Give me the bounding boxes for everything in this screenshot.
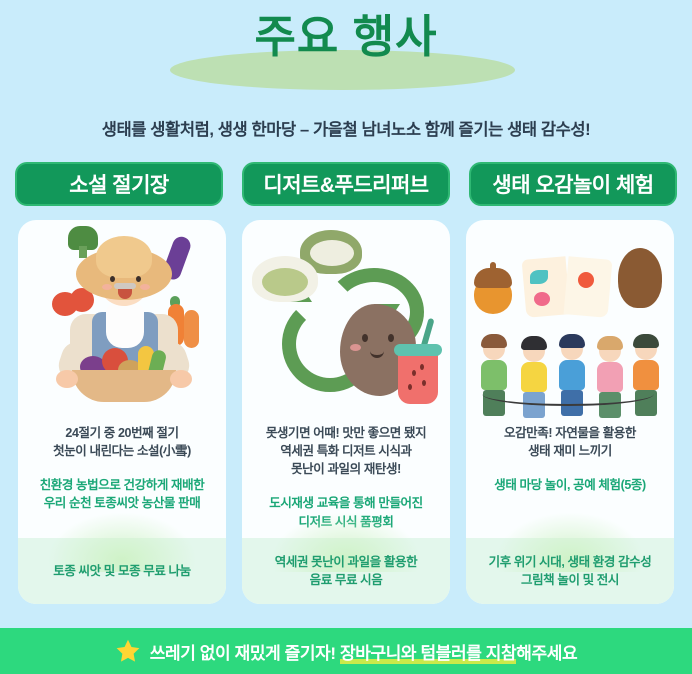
footer-text-before: 쓰레기 없이 재밌게 즐기자! <box>150 644 340 663</box>
card-footer-line: 음료 무료 시음 <box>275 571 417 589</box>
child-figure <box>480 338 508 416</box>
child-figure <box>520 340 548 418</box>
page-subtitle: 생태를 생활처럼, 생생 한마당 – 가을철 남녀노소 함께 즐기는 생태 감수… <box>0 96 692 140</box>
acorn-stem-icon <box>490 262 496 271</box>
watermelon-seed <box>408 384 412 390</box>
card-highlight-line: 생태 마당 놀이, 공예 체험(5종) <box>494 476 646 494</box>
acorn-cap-icon <box>474 268 512 288</box>
child-head <box>561 338 583 360</box>
potato-cheek-left <box>350 344 361 351</box>
straw-hat-crown <box>96 236 152 278</box>
watermelon-seed <box>412 370 416 376</box>
card-description-line: 역세권 특화 디저트 시식과 <box>266 442 426 460</box>
footer-notice-text: 쓰레기 없이 재밌게 즐기자! 장바구니와 텀블러를 지참해주세요 <box>150 639 577 664</box>
child-hair <box>597 336 623 350</box>
card-description-line: 오감만족! 자연물을 활용한 <box>504 424 636 442</box>
card-footer-line: 역세권 못난이 과일을 활용한 <box>275 553 417 571</box>
basket-icon <box>72 370 176 402</box>
card-text-body: 못생기면 어때! 맛만 좋으면 됐지 역세권 특화 디저트 시식과 못난이 과일… <box>242 420 450 604</box>
potato-eye-right <box>388 334 394 342</box>
jump-rope-icon <box>482 382 654 406</box>
card-highlight-line: 우리 순천 토종씨앗 농산물 판매 <box>40 494 205 512</box>
potato-eye-left <box>362 334 368 342</box>
card-footer-band: 토종 씨앗 및 모종 무료 나눔 <box>18 538 226 604</box>
drink-lid-icon <box>394 344 442 356</box>
page-header: 주요 행사 <box>0 0 692 96</box>
farmer-mustache <box>114 283 136 289</box>
card-description: 못생기면 어때! 맛만 좋으면 됐지 역세권 특화 디저트 시식과 못난이 과일… <box>266 424 426 478</box>
farmer-hand-left <box>56 370 78 388</box>
child-figure <box>596 340 624 418</box>
card-description-line: 못생기면 어때! 맛만 좋으면 됐지 <box>266 424 426 442</box>
card-footer-band: 기후 위기 시대, 생태 환경 감수성 그림책 놀이 및 전시 <box>466 538 674 604</box>
book-leaf-drawing-icon <box>530 270 548 284</box>
card-highlight-line: 도시재생 교육을 통해 만들어진 <box>269 494 423 512</box>
card-description-line: 못난이 과일의 재탄생! <box>266 460 426 478</box>
card-footer-text: 토종 씨앗 및 모종 무료 나눔 <box>53 562 190 580</box>
card-footer-line: 기후 위기 시대, 생태 환경 감수성 <box>489 553 652 571</box>
child-head <box>635 338 657 360</box>
farmer-eye-left <box>110 276 115 282</box>
card-footer-band: 역세권 못난이 과일을 활용한 음료 무료 시음 <box>242 538 450 604</box>
event-tab-bar: 소설 절기장 디저트&푸드리퍼브 생태 오감놀이 체험 <box>0 140 692 206</box>
card-text-body: 오감만족! 자연물을 활용한 생태 재미 느끼기 생태 마당 놀이, 공예 체험… <box>466 420 674 604</box>
card-text-body: 24절기 중 20번째 절기 첫눈이 내린다는 소설(小雪) 친환경 농법으로 … <box>18 420 226 604</box>
rice-cake-green-filling <box>310 240 354 266</box>
rice-cake-white-filling <box>262 268 308 296</box>
child-hair <box>521 336 547 350</box>
child-figure <box>632 338 660 416</box>
footer-text-after: 해주세요 <box>516 644 577 663</box>
book-sun-drawing-icon <box>578 272 594 288</box>
footer-notice-bar: 쓰레기 없이 재밌게 즐기자! 장바구니와 텀블러를 지참해주세요 <box>0 628 692 674</box>
event-card-soseol[interactable]: 24절기 중 20번째 절기 첫눈이 내린다는 소설(小雪) 친환경 농법으로 … <box>18 220 226 604</box>
tab-soseol-jeolgijang[interactable]: 소설 절기장 <box>15 162 223 206</box>
card-footer-text: 기후 위기 시대, 생태 환경 감수성 그림책 놀이 및 전시 <box>489 553 652 589</box>
farmer-cheek-right <box>140 284 150 290</box>
farmer-cheek-left <box>102 284 112 290</box>
card-footer-line: 그림책 놀이 및 전시 <box>489 571 652 589</box>
book-flower-drawing-icon <box>534 292 550 306</box>
watermelon-drink-icon <box>398 350 438 404</box>
broccoli-stem-icon <box>79 246 87 258</box>
pine-cone-icon <box>618 248 662 308</box>
child-head <box>599 340 621 362</box>
event-card-dessert[interactable]: 못생기면 어때! 맛만 좋으면 됐지 역세권 특화 디저트 시식과 못난이 과일… <box>242 220 450 604</box>
card-description: 오감만족! 자연물을 활용한 생태 재미 느끼기 <box>504 424 636 460</box>
tab-dessert-food-refurb[interactable]: 디저트&푸드리퍼브 <box>242 162 450 206</box>
carrot-icon <box>184 310 199 348</box>
child-hair <box>559 334 585 348</box>
card-footer-text: 역세권 못난이 과일을 활용한 음료 무료 시음 <box>275 553 417 589</box>
card-highlight-line: 친환경 농법으로 건강하게 재배한 <box>40 476 205 494</box>
card-description-line: 24절기 중 20번째 절기 <box>53 424 191 442</box>
child-head <box>523 340 545 362</box>
tab-eco-five-senses[interactable]: 생태 오감놀이 체험 <box>469 162 677 206</box>
farmer-eye-right <box>136 276 141 282</box>
card-description-line: 첫눈이 내린다는 소설(小雪) <box>53 442 191 460</box>
child-hair <box>481 334 507 348</box>
event-card-five-senses[interactable]: 오감만족! 자연물을 활용한 생태 재미 느끼기 생태 마당 놀이, 공예 체험… <box>466 220 674 604</box>
card-highlight-text: 생태 마당 놀이, 공예 체험(5종) <box>494 476 646 494</box>
star-icon <box>115 638 141 664</box>
watermelon-seed <box>420 364 424 370</box>
footer-text-underlined: 장바구니와 텀블러를 지참 <box>340 644 516 664</box>
farmer-illustration <box>18 220 226 420</box>
child-hair <box>633 334 659 348</box>
card-footer-line: 토종 씨앗 및 모종 무료 나눔 <box>53 562 190 580</box>
farmer-towel <box>106 304 144 348</box>
card-description: 24절기 중 20번째 절기 첫눈이 내린다는 소설(小雪) <box>53 424 191 460</box>
potato-reuse-illustration <box>242 220 450 420</box>
card-highlight-text: 친환경 농법으로 건강하게 재배한 우리 순천 토종씨앗 농산물 판매 <box>40 476 205 512</box>
nature-kids-illustration <box>466 220 674 420</box>
card-description-line: 생태 재미 느끼기 <box>504 442 636 460</box>
page-title: 주요 행사 <box>0 14 692 59</box>
child-head <box>483 338 505 360</box>
event-card-list: 24절기 중 20번째 절기 첫눈이 내린다는 소설(小雪) 친환경 농법으로 … <box>0 206 692 604</box>
watermelon-seed <box>422 380 426 386</box>
farmer-hand-right <box>170 370 192 388</box>
